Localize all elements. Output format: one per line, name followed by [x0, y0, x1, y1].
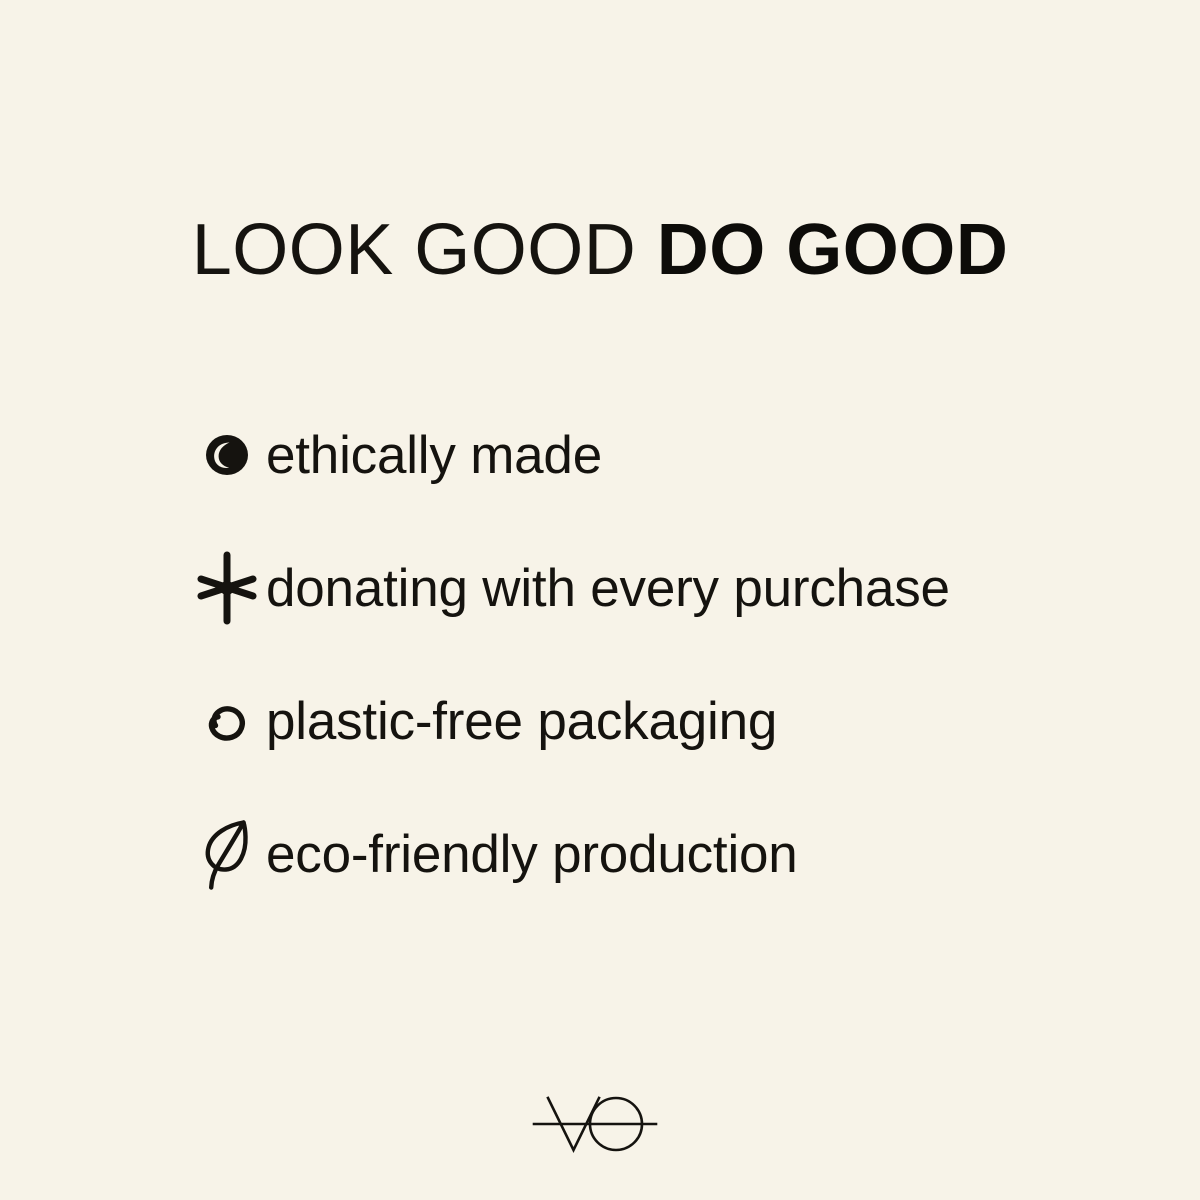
- list-item: donating with every purchase: [196, 541, 1096, 635]
- list-item: plastic-free packaging: [196, 674, 1096, 768]
- headline-bold-text: DO GOOD: [657, 210, 1009, 290]
- feature-label: eco-friendly production: [258, 828, 798, 881]
- headline-light-text: LOOK GOOD: [192, 210, 637, 290]
- feature-label: ethically made: [258, 429, 602, 482]
- leaf-icon: [196, 818, 258, 890]
- promo-poster: LOOK GOOD DO GOOD ethically made: [0, 0, 1200, 1200]
- crescent-circle-icon: [196, 419, 258, 491]
- asterisk-star-icon: [196, 552, 258, 624]
- feature-list: ethically made donating with every purch…: [196, 408, 1096, 901]
- vo-monogram-icon: VO: [530, 1086, 670, 1162]
- feature-label: plastic-free packaging: [258, 695, 777, 748]
- feature-label: donating with every purchase: [258, 562, 950, 615]
- brand-logo: VO: [0, 1086, 1200, 1162]
- page-title: LOOK GOOD DO GOOD: [0, 214, 1200, 286]
- list-item: eco-friendly production: [196, 807, 1096, 901]
- list-item: ethically made: [196, 408, 1096, 502]
- spiral-circle-icon: [196, 685, 258, 757]
